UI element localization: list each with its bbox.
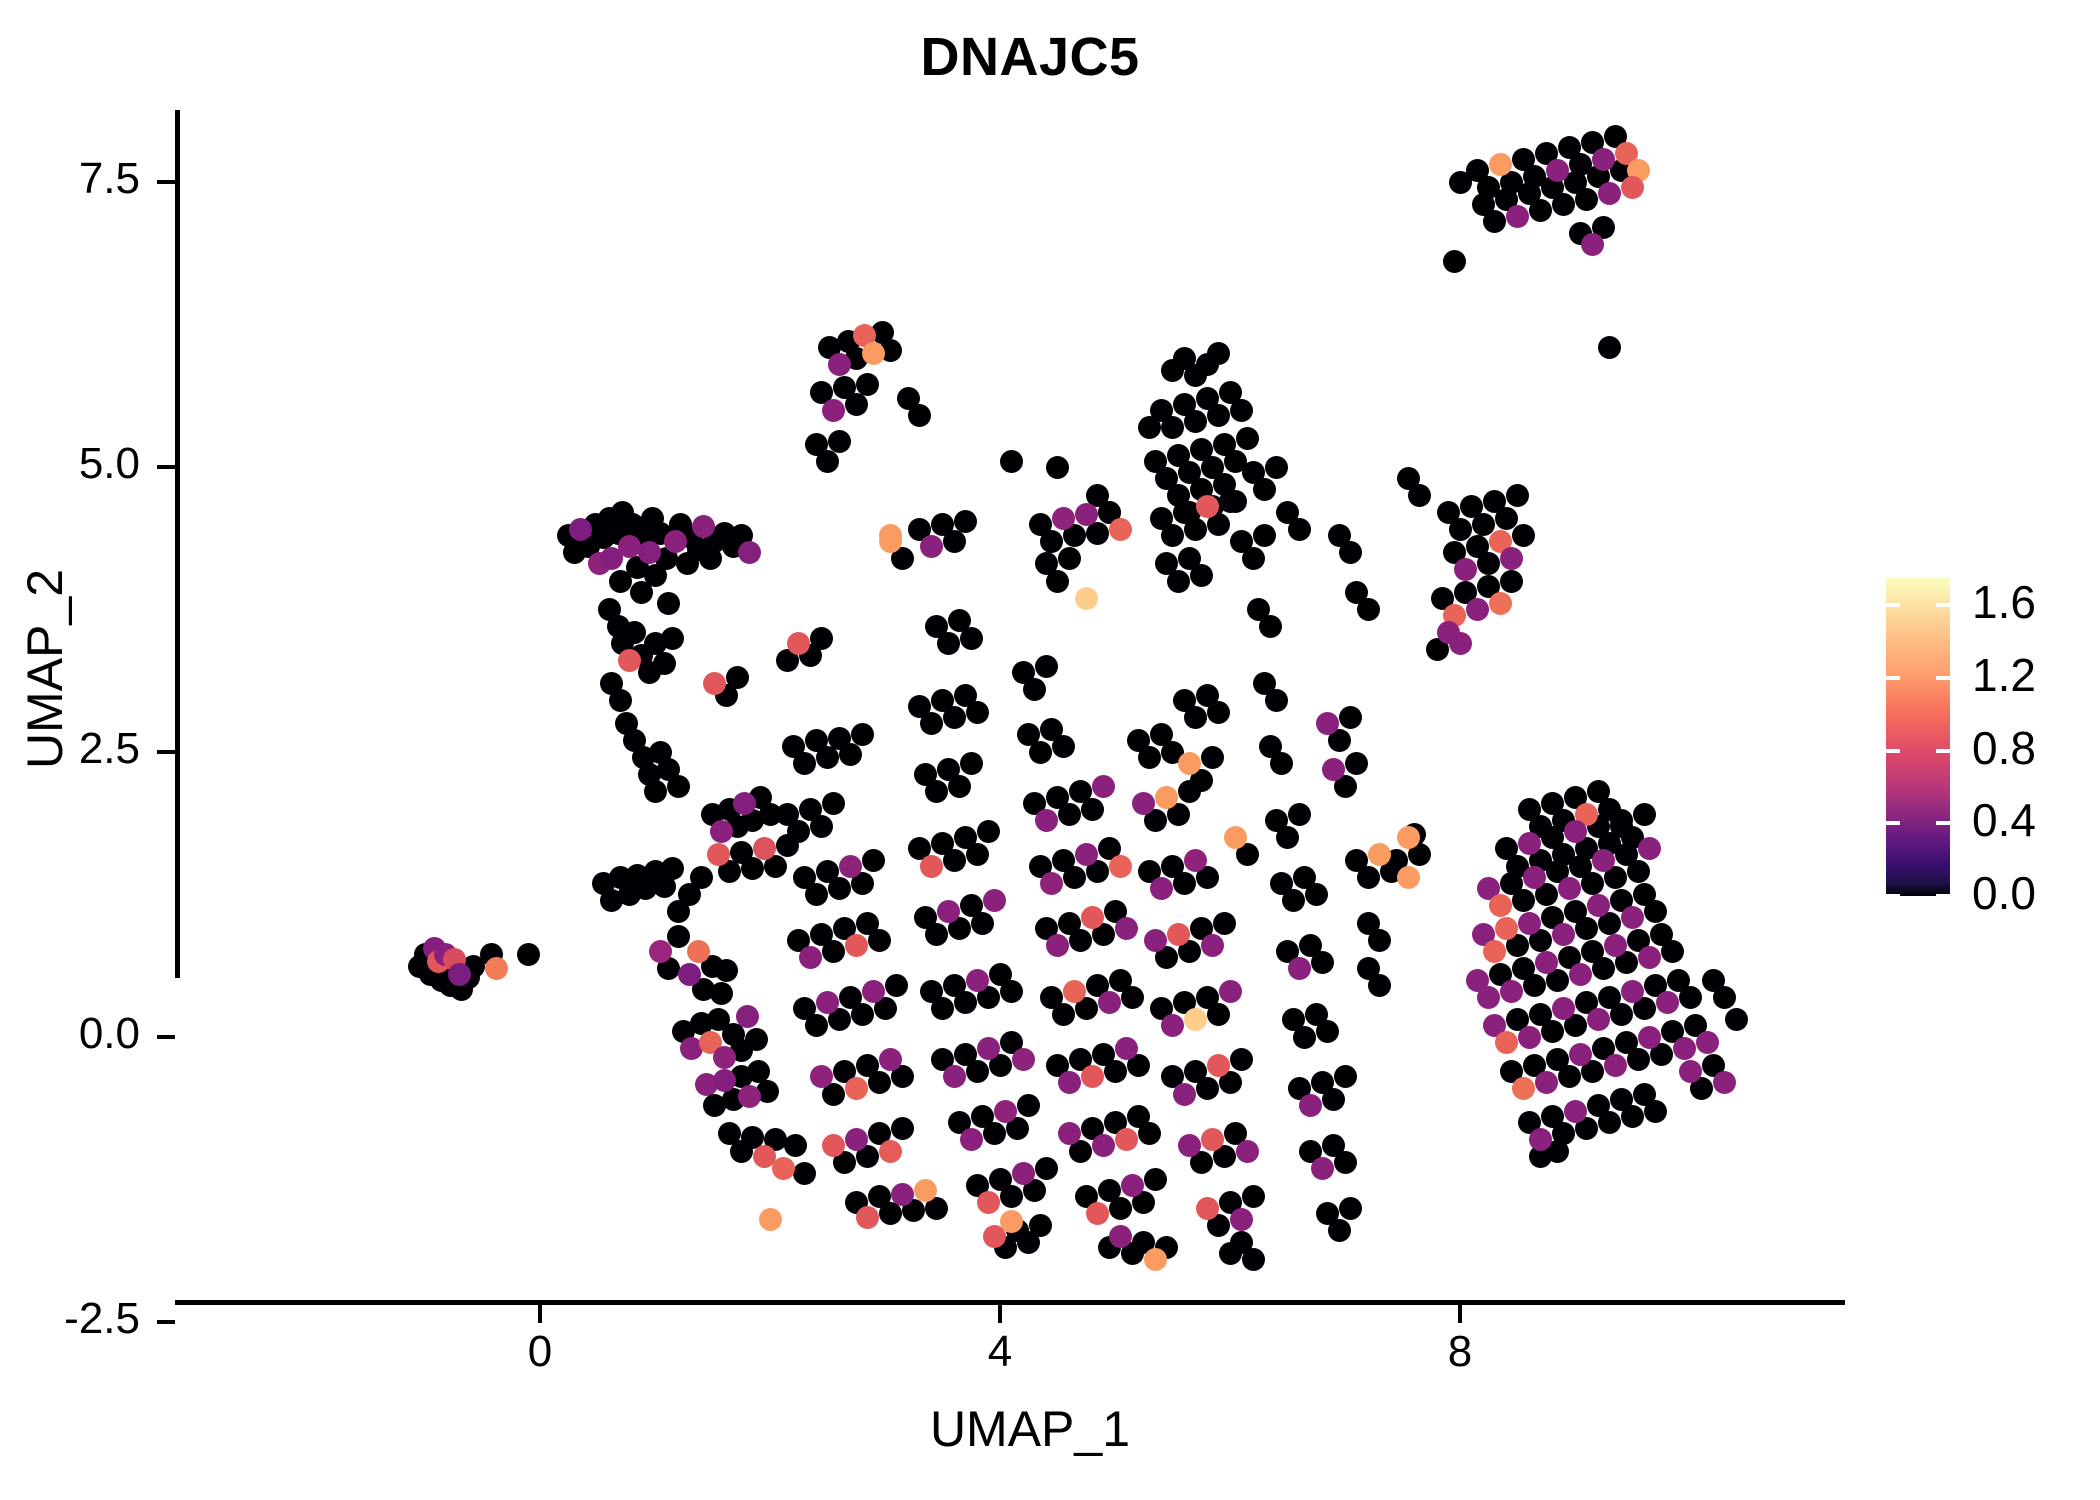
- scatter-point: [1040, 530, 1063, 553]
- scatter-point: [1161, 416, 1184, 439]
- scatter-point: [937, 900, 960, 923]
- scatter-point: [1368, 974, 1391, 997]
- scatter-point: [1230, 1048, 1253, 1071]
- scatter-point: [1052, 507, 1075, 530]
- scatter-point: [1621, 980, 1644, 1003]
- scatter-point: [1224, 490, 1247, 513]
- scatter-point: [862, 849, 885, 872]
- scatter-point: [1092, 775, 1115, 798]
- scatter-point: [1552, 923, 1575, 946]
- scatter-point: [1598, 1111, 1621, 1134]
- scatter-point: [784, 1134, 807, 1157]
- scatter-point: [925, 923, 948, 946]
- x-tick-mark: [998, 1305, 1002, 1323]
- scatter-point: [1489, 894, 1512, 917]
- scatter-point: [1322, 1088, 1345, 1111]
- scatter-point: [1184, 1008, 1207, 1031]
- scatter-point: [1196, 495, 1219, 518]
- scatter-point: [664, 530, 687, 553]
- scatter-point: [1184, 410, 1207, 433]
- scatter-point: [1046, 570, 1069, 593]
- scatter-point: [1621, 906, 1644, 929]
- scatter-point: [1012, 1048, 1035, 1071]
- scatter-point: [983, 889, 1006, 912]
- scatter-point: [1115, 1037, 1138, 1060]
- scatter-point: [971, 912, 994, 935]
- scatter-point: [692, 515, 715, 538]
- x-tick-label: 8: [1400, 1327, 1520, 1377]
- scatter-point: [1178, 1134, 1201, 1157]
- scatter-point: [1449, 632, 1472, 655]
- x-tick-mark: [538, 1305, 542, 1323]
- y-tick-mark: [157, 750, 175, 754]
- scatter-point: [966, 969, 989, 992]
- scatter-point: [1035, 655, 1058, 678]
- scatter-point: [1023, 678, 1046, 701]
- scatter-point: [1132, 792, 1155, 815]
- scatter-point: [1345, 752, 1368, 775]
- colorbar-tick-mark: [1886, 821, 1900, 825]
- colorbar-tick-mark: [1936, 894, 1950, 898]
- scatter-point: [1063, 980, 1086, 1003]
- scatter-point: [1512, 889, 1535, 912]
- scatter-point: [1052, 735, 1075, 758]
- scatter-point: [1282, 889, 1305, 912]
- scatter-point: [1265, 456, 1288, 479]
- scatter-point: [713, 1046, 736, 1069]
- scatter-point: [1633, 803, 1656, 826]
- scatter-point: [710, 982, 733, 1005]
- scatter-point: [816, 450, 839, 473]
- scatter-point: [793, 752, 816, 775]
- scatter-point: [1029, 741, 1052, 764]
- y-tick-mark: [157, 1035, 175, 1039]
- scatter-point: [1500, 570, 1523, 593]
- scatter-point: [822, 792, 845, 815]
- scatter-point: [1506, 484, 1529, 507]
- x-axis-line: [175, 1300, 1845, 1305]
- scatter-point: [1627, 860, 1650, 883]
- scatter-point: [1075, 587, 1098, 610]
- scatter-point: [638, 541, 661, 564]
- scatter-point: [1305, 883, 1328, 906]
- scatter-point: [1489, 153, 1512, 176]
- colorbar-tick-label: 0.8: [1972, 721, 2036, 775]
- scatter-point: [851, 723, 874, 746]
- scatter-point: [1472, 513, 1495, 536]
- scatter-point: [1012, 1162, 1035, 1185]
- scatter-point: [977, 1191, 1000, 1214]
- scatter-point: [1167, 923, 1190, 946]
- scatter-point: [943, 530, 966, 553]
- scatter-point: [707, 843, 730, 866]
- x-tick-mark: [1458, 1305, 1462, 1323]
- scatter-point: [862, 980, 885, 1003]
- scatter-point: [1058, 1122, 1081, 1145]
- scatter-point: [839, 855, 862, 878]
- colorbar-gradient: [1886, 578, 1950, 896]
- scatter-point: [828, 877, 851, 900]
- scatter-point: [879, 524, 902, 547]
- scatter-point: [1196, 1197, 1219, 1220]
- scatter-point: [569, 518, 592, 541]
- scatter-point: [1529, 199, 1552, 222]
- scatter-point: [822, 940, 845, 963]
- scatter-point: [741, 857, 764, 880]
- scatter-point: [738, 541, 761, 564]
- scatter-point: [885, 974, 908, 997]
- scatter-point: [1334, 1065, 1357, 1088]
- scatter-point: [1046, 456, 1069, 479]
- scatter-point: [1656, 991, 1679, 1014]
- scatter-point: [713, 1069, 736, 1092]
- scatter-point: [810, 627, 833, 650]
- scatter-point: [799, 946, 822, 969]
- scatter-point: [805, 1014, 828, 1037]
- scatter-point: [1443, 250, 1466, 273]
- scatter-point: [1604, 1054, 1627, 1077]
- scatter-point: [1236, 427, 1259, 450]
- scatter-point: [1523, 866, 1546, 889]
- scatter-point: [1512, 524, 1535, 547]
- scatter-point: [1713, 1071, 1736, 1094]
- scatter-point: [485, 957, 508, 980]
- scatter-point: [1638, 946, 1661, 969]
- scatter-point: [1213, 912, 1236, 935]
- scatter-point: [1288, 803, 1311, 826]
- scatter-point: [1058, 1071, 1081, 1094]
- x-tick-label: 4: [940, 1327, 1060, 1377]
- y-axis-line: [175, 110, 180, 978]
- scatter-point: [960, 1128, 983, 1151]
- scatter-point: [1638, 1026, 1661, 1049]
- scatter-point: [667, 775, 690, 798]
- scatter-point: [1196, 1077, 1219, 1100]
- scatter-point: [920, 855, 943, 878]
- scatter-point: [1081, 798, 1104, 821]
- scatter-point: [828, 353, 851, 376]
- colorbar-tick-mark: [1886, 894, 1900, 898]
- scatter-point: [1259, 615, 1282, 638]
- scatter-point: [738, 1085, 761, 1108]
- colorbar-tick-label: 0.0: [1972, 866, 2036, 920]
- scatter-point: [937, 632, 960, 655]
- colorbar-tick-mark: [1936, 676, 1950, 680]
- scatter-point: [1144, 929, 1167, 952]
- scatter-point: [1190, 564, 1213, 587]
- scatter-point: [1449, 171, 1472, 194]
- x-axis-label: UMAP_1: [680, 1400, 1380, 1458]
- scatter-point: [1052, 1003, 1075, 1026]
- scatter-point: [1040, 872, 1063, 895]
- scatter-point: [960, 627, 983, 650]
- scatter-point: [966, 701, 989, 724]
- scatter-point: [1219, 980, 1242, 1003]
- scatter-point: [661, 857, 684, 880]
- scatter-point: [1017, 1094, 1040, 1117]
- scatter-point: [1477, 986, 1500, 1009]
- y-tick-mark: [157, 180, 175, 184]
- y-tick-label: -2.5: [0, 1294, 140, 1344]
- scatter-point: [1299, 1094, 1322, 1117]
- scatter-point: [1207, 701, 1230, 724]
- scatter-point: [1357, 598, 1380, 621]
- scatter-point: [733, 792, 756, 815]
- scatter-point: [891, 1117, 914, 1140]
- scatter-point: [1523, 974, 1546, 997]
- scatter-point: [851, 1003, 874, 1026]
- scatter-point: [1587, 894, 1610, 917]
- colorbar-tick-mark: [1936, 749, 1950, 753]
- scatter-point: [1293, 1026, 1316, 1049]
- scatter-point: [793, 1162, 816, 1185]
- scatter-point: [1598, 336, 1621, 359]
- scatter-point: [966, 1060, 989, 1083]
- scatter-point: [1564, 820, 1587, 843]
- scatter-point: [1063, 866, 1086, 889]
- scatter-point: [1144, 1248, 1167, 1271]
- scatter-point: [1644, 1100, 1667, 1123]
- scatter-point: [1288, 518, 1311, 541]
- scatter-point: [1679, 1060, 1702, 1083]
- scatter-point: [822, 1134, 845, 1157]
- scatter-point: [943, 706, 966, 729]
- colorbar-tick-label: 1.6: [1972, 575, 2036, 629]
- scatter-point: [845, 1128, 868, 1151]
- scatter-point: [772, 1157, 795, 1180]
- scatter-point: [1092, 1134, 1115, 1157]
- scatter-point: [1581, 233, 1604, 256]
- scatter-point: [1161, 1014, 1184, 1037]
- scatter-point: [1000, 450, 1023, 473]
- scatter-point: [1178, 752, 1201, 775]
- scatter-point: [1541, 1020, 1564, 1043]
- scatter-point: [1029, 1214, 1052, 1237]
- y-axis-label: UMAP_2: [16, 369, 74, 969]
- scatter-point: [810, 815, 833, 838]
- scatter-point: [1558, 1065, 1581, 1088]
- colorbar-tick-mark: [1936, 821, 1950, 825]
- scatter-point: [1713, 986, 1736, 1009]
- scatter-point: [1489, 592, 1512, 615]
- scatter-point: [1328, 1219, 1351, 1242]
- scatter-point: [1242, 547, 1265, 570]
- scatter-point: [1397, 866, 1420, 889]
- scatter-point: [839, 743, 862, 766]
- scatter-point: [1495, 1031, 1518, 1054]
- scatter-point: [1081, 1065, 1104, 1088]
- scatter-point: [1058, 547, 1081, 570]
- scatter-point: [1121, 1174, 1144, 1197]
- scatter-point: [1316, 1020, 1339, 1043]
- scatter-point: [1311, 1157, 1334, 1180]
- scatter-point: [1368, 929, 1391, 952]
- colorbar-tick-mark: [1886, 749, 1900, 753]
- scatter-point: [1483, 940, 1506, 963]
- scatter-point: [948, 775, 971, 798]
- scatter-point: [1529, 1128, 1552, 1151]
- scatter-point: [920, 535, 943, 558]
- scatter-point: [1288, 957, 1311, 980]
- scatter-point: [1339, 1197, 1362, 1220]
- scatter-point: [1109, 1197, 1132, 1220]
- scatter-point: [1207, 342, 1230, 365]
- scatter-point: [1138, 1122, 1161, 1145]
- y-tick-mark: [157, 1320, 175, 1324]
- scatter-point: [822, 399, 845, 422]
- scatter-point: [1500, 547, 1523, 570]
- scatter-point: [1253, 524, 1276, 547]
- scatter-point: [868, 929, 891, 952]
- y-tick-mark: [157, 465, 175, 469]
- scatter-point: [1075, 503, 1098, 526]
- scatter-point: [661, 627, 684, 650]
- scatter-point: [1564, 1100, 1587, 1123]
- scatter-point: [1569, 963, 1592, 986]
- scatter-point: [845, 393, 868, 416]
- scatter-point: [954, 991, 977, 1014]
- scatter-point: [845, 934, 868, 957]
- scatter-point: [891, 1183, 914, 1206]
- scatter-point: [1311, 951, 1334, 974]
- scatter-point: [1627, 1048, 1650, 1071]
- scatter-point: [994, 1100, 1017, 1123]
- scatter-point: [1150, 877, 1173, 900]
- scatter-point: [1592, 849, 1615, 872]
- scatter-point: [1058, 803, 1081, 826]
- scatter-point: [1610, 1003, 1633, 1026]
- scatter-point: [1495, 507, 1518, 530]
- scatter-point: [1592, 148, 1615, 171]
- scatter-point: [1081, 906, 1104, 929]
- scatter-point: [1000, 980, 1023, 1003]
- scatter-point: [1644, 900, 1667, 923]
- scatter-point: [1500, 980, 1523, 1003]
- scatter-point: [920, 712, 943, 735]
- scatter-point: [1506, 205, 1529, 228]
- scatter-point: [931, 997, 954, 1020]
- scatter-point: [1069, 929, 1092, 952]
- scatter-point: [1075, 843, 1098, 866]
- scatter-point: [1236, 1140, 1259, 1163]
- colorbar-tick-label: 0.4: [1972, 793, 2036, 847]
- scatter-point: [1535, 951, 1558, 974]
- scatter-point: [1184, 849, 1207, 872]
- scatter-point: [1587, 1008, 1610, 1031]
- scatter-point: [914, 1179, 937, 1202]
- scatter-point: [715, 959, 738, 982]
- scatter-point: [736, 1005, 759, 1028]
- scatter-point: [623, 621, 646, 644]
- scatter-point: [1558, 877, 1581, 900]
- scatter-point: [1495, 917, 1518, 940]
- scatter-point: [856, 1206, 879, 1229]
- scatter-point: [1569, 1043, 1592, 1066]
- scatter-point: [1598, 182, 1621, 205]
- scatter-point: [1466, 598, 1489, 621]
- scatter-point: [1679, 986, 1702, 1009]
- scatter-point: [653, 652, 676, 675]
- y-tick-label: 0.0: [0, 1009, 140, 1059]
- scatter-point: [1604, 934, 1627, 957]
- scatter-point: [1397, 826, 1420, 849]
- scatter-point: [983, 1122, 1006, 1145]
- y-tick-label: 7.5: [0, 154, 140, 204]
- scatter-point: [1173, 872, 1196, 895]
- scatter-point: [1535, 1071, 1558, 1094]
- scatter-point: [1230, 399, 1253, 422]
- scatter-point: [1086, 1202, 1109, 1225]
- scatter-point: [1673, 1037, 1696, 1060]
- scatter-point: [745, 1028, 768, 1051]
- colorbar-tick-mark: [1886, 676, 1900, 680]
- scatter-point: [862, 342, 885, 365]
- scatter-point: [644, 780, 667, 803]
- umap-scatter-plot: DNAJC5 -2.50.02.55.07.5 048 UMAP_2 UMAP_…: [0, 0, 2100, 1500]
- scatter-point: [879, 1140, 902, 1163]
- scatter-point: [1098, 991, 1121, 1014]
- scatter-point: [1575, 188, 1598, 211]
- scatter-point: [448, 963, 471, 986]
- scatter-point: [1035, 809, 1058, 832]
- scatter-point: [1265, 689, 1288, 712]
- scatter-point: [759, 1208, 782, 1231]
- scatter-point: [977, 1037, 1000, 1060]
- scatter-point: [1552, 997, 1575, 1020]
- scatter-point: [805, 883, 828, 906]
- x-tick-label: 0: [480, 1327, 600, 1377]
- scatter-point: [678, 963, 701, 986]
- scatter-point: [1035, 1157, 1058, 1180]
- scatter-point: [1207, 1003, 1230, 1026]
- scatter-point: [1368, 843, 1391, 866]
- scatter-point: [1242, 1248, 1265, 1271]
- scatter-point: [845, 1077, 868, 1100]
- scatter-point: [1121, 986, 1144, 1009]
- scatter-point: [1322, 758, 1345, 781]
- scatter-point: [753, 837, 776, 860]
- scatter-point: [1115, 1128, 1138, 1151]
- scatter-point: [1357, 866, 1380, 889]
- scatter-point: [1518, 832, 1541, 855]
- scatter-point: [1161, 524, 1184, 547]
- scatter-point: [943, 1065, 966, 1088]
- scatter-point: [1518, 1026, 1541, 1049]
- page-title: DNAJC5: [0, 26, 2080, 88]
- scatter-point: [943, 849, 966, 872]
- scatter-point: [1512, 1077, 1535, 1100]
- scatter-point: [1592, 957, 1615, 980]
- scatter-point: [1109, 855, 1132, 878]
- colorbar-tick-mark: [1886, 603, 1900, 607]
- scatter-point: [690, 866, 713, 889]
- scatter-point: [1000, 1185, 1023, 1208]
- scatter-point: [1334, 1151, 1357, 1174]
- colorbar-tick-mark: [1936, 603, 1950, 607]
- scatter-point: [1621, 1105, 1644, 1128]
- colorbar-tick-label: 1.2: [1972, 648, 2036, 702]
- scatter-point: [1167, 570, 1190, 593]
- scatter-point: [966, 843, 989, 866]
- scatter-point: [828, 430, 851, 453]
- scatter-point: [1104, 1060, 1127, 1083]
- scatter-point: [868, 1071, 891, 1094]
- scatter-point: [1230, 1208, 1253, 1231]
- scatter-point: [1242, 1185, 1265, 1208]
- scatter-point: [1207, 1054, 1230, 1077]
- scatter-point: [1725, 1008, 1748, 1031]
- scatter-point: [1696, 1031, 1719, 1054]
